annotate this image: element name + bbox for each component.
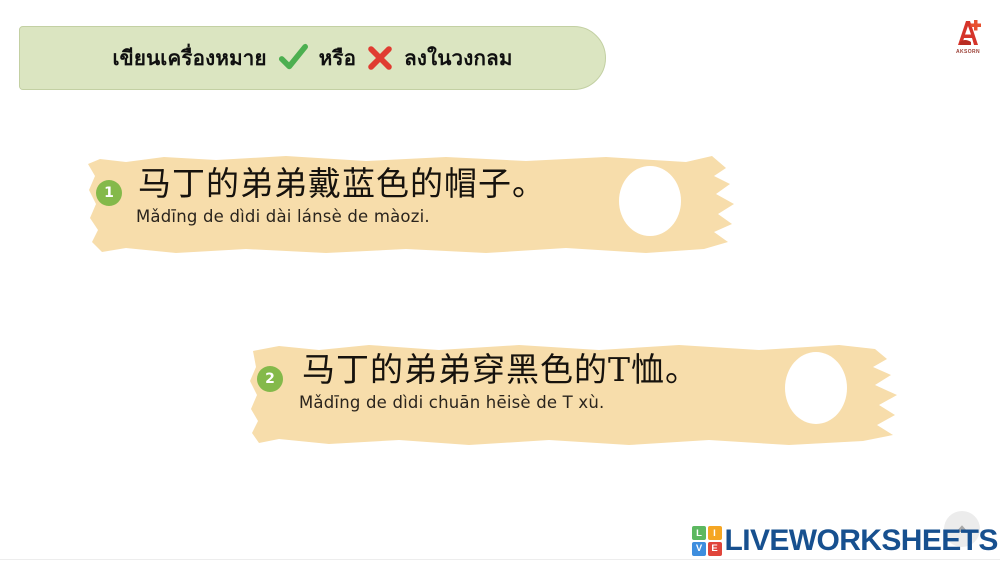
- tile-letter-v: V: [692, 542, 706, 556]
- instruction-text-middle: หรือ: [319, 42, 356, 75]
- question-pinyin-2: Mǎdīng de dìdi chuān hēisè de T xù.: [299, 395, 604, 412]
- red-cross-icon: [367, 45, 393, 71]
- question-pinyin-1: Mǎdīng de dìdi dài lánsè de màozi.: [136, 209, 430, 226]
- answer-circle-2[interactable]: [785, 352, 847, 424]
- tile-letter-l: L: [692, 526, 706, 540]
- answer-circle-1[interactable]: [619, 166, 681, 236]
- question-banner-2: 2 马丁的弟弟穿黑色的T恤。 Mǎdīng de dìdi chuān hēis…: [249, 341, 919, 449]
- tile-letter-e: E: [708, 542, 722, 556]
- question-banner-1: 1 马丁的弟弟戴蓝色的帽子。 Mǎdīng de dìdi dài lánsè …: [86, 152, 746, 258]
- tile-letter-i: I: [708, 526, 722, 540]
- instruction-text-before: เขียนเครื่องหมาย: [112, 42, 266, 75]
- instruction-text-after: ลงในวงกลม: [404, 42, 512, 75]
- footer-divider: [0, 559, 1000, 560]
- liveworksheets-wordmark: LIVEWORKSHEETS: [725, 526, 998, 556]
- instruction-banner: เขียนเครื่องหมาย หรือ ลงในวงกลม: [19, 26, 606, 90]
- liveworksheets-tiles: L I V E: [692, 526, 722, 556]
- publisher-logo: AKSORN: [944, 18, 992, 62]
- worksheet-page: เขียนเครื่องหมาย หรือ ลงในวงกลม AKSORN: [0, 0, 1000, 569]
- question-hanzi-2: 马丁的弟弟穿黑色的T恤。: [302, 353, 699, 386]
- question-hanzi-1: 马丁的弟弟戴蓝色的帽子。: [138, 167, 546, 200]
- liveworksheets-logo: L I V E LIVEWORKSHEETS: [692, 524, 998, 558]
- question-number-badge-1: 1: [96, 180, 122, 206]
- a-plus-mark-icon: [951, 18, 985, 48]
- publisher-name: AKSORN: [956, 49, 980, 55]
- question-number-badge-2: 2: [257, 366, 283, 392]
- green-check-icon: [278, 43, 308, 73]
